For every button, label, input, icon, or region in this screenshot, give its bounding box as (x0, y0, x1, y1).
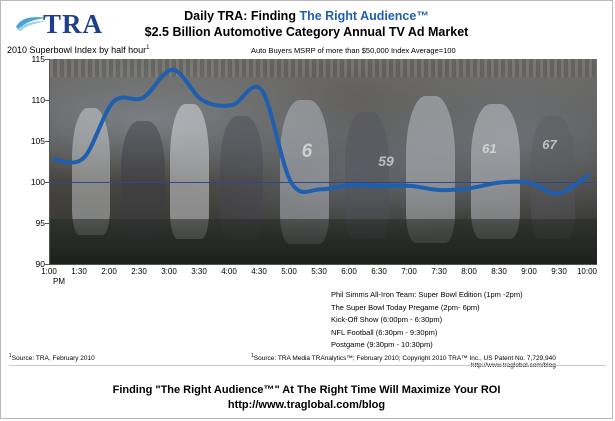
x-tick-label-4: 3:00 (154, 267, 184, 276)
x-tick-label-17: 9:30 (544, 267, 574, 276)
x-tick-label-9: 5:30 (304, 267, 334, 276)
title-suffix: ™ (416, 9, 429, 23)
x-tick-label-16: 9:00 (514, 267, 544, 276)
chart-caption-left-sup: 1 (146, 45, 149, 51)
legend-item-3: NFL Football (6:30pm - 9:30pm) (331, 327, 523, 340)
y-tick-label-115: 115 (15, 54, 45, 64)
y-tick-label-95: 95 (15, 218, 45, 228)
footer-tagline: Finding "The Right Audience™" At The Rig… (1, 384, 612, 396)
legend-item-2: Kick-Off Show (6:00pm - 6:30pm) (331, 314, 523, 327)
x-tick-label-7: 4:30 (244, 267, 274, 276)
footnote-left-text: Source: TRA, February 2010 (12, 355, 95, 362)
x-tick-label-0: 1:00 (34, 267, 64, 276)
x-tick-label-1: 1:30 (64, 267, 94, 276)
slide-frame: TRA Daily TRA: Finding The Right Audienc… (0, 0, 613, 419)
footnote-right-text: Source: TRA Media TRAnalytics™; February… (254, 355, 556, 362)
y-tick-label-105: 105 (15, 136, 45, 146)
x-tick-label-5: 3:30 (184, 267, 214, 276)
plot-area: 6 59 61 67 (49, 59, 597, 265)
footnote-left: 1Source: TRA, February 2010 (9, 353, 95, 362)
x-tick-label-11: 6:30 (364, 267, 394, 276)
footer-url[interactable]: http://www.traglobal.com/blog (1, 399, 612, 411)
chart-caption-right-a: Auto Buyers MSRP of more than $50,000 In… (251, 46, 456, 55)
title-prefix: Daily TRA: Finding (184, 9, 299, 23)
legend-item-0: Phil Simms All-Iron Team: Super Bowl Edi… (331, 289, 523, 302)
chart-caption-right: Auto Buyers MSRP of more than $50,000 In… (251, 46, 456, 55)
x-tick-label-2: 2:00 (94, 267, 124, 276)
chart: 115 110 105 100 95 90 6 (15, 59, 601, 281)
title-highlight: The Right Audience (299, 9, 416, 23)
footnote-right: 1Source: TRA Media TRAnalytics™; Februar… (251, 353, 556, 369)
x-tick-label-12: 7:00 (394, 267, 424, 276)
x-tick-label-pm: PM (44, 277, 74, 286)
page-title: Daily TRA: Finding The Right Audience™ (1, 9, 612, 23)
page-subtitle: $2.5 Billion Automotive Category Annual … (1, 25, 612, 39)
legend-item-4: Postgame (9:30pm - 10:30pm) (331, 339, 523, 352)
x-tick-label-3: 2:30 (124, 267, 154, 276)
y-tick-label-110: 110 (15, 95, 45, 105)
series-line (50, 59, 597, 265)
x-tick-label-15: 8:30 (484, 267, 514, 276)
x-tick-label-18: 10:00 (572, 267, 602, 276)
y-tick-label-100: 100 (15, 177, 45, 187)
x-tick-label-10: 6:00 (334, 267, 364, 276)
divider (9, 365, 606, 366)
legend-item-1: The Super Bowl Today Pregame (2pm- 6pm) (331, 302, 523, 315)
legend: Phil Simms All-Iron Team: Super Bowl Edi… (331, 289, 523, 352)
x-tick-label-13: 7:30 (424, 267, 454, 276)
x-tick-label-6: 4:00 (214, 267, 244, 276)
x-tick-label-8: 5:00 (274, 267, 304, 276)
x-tick-label-14: 8:00 (454, 267, 484, 276)
